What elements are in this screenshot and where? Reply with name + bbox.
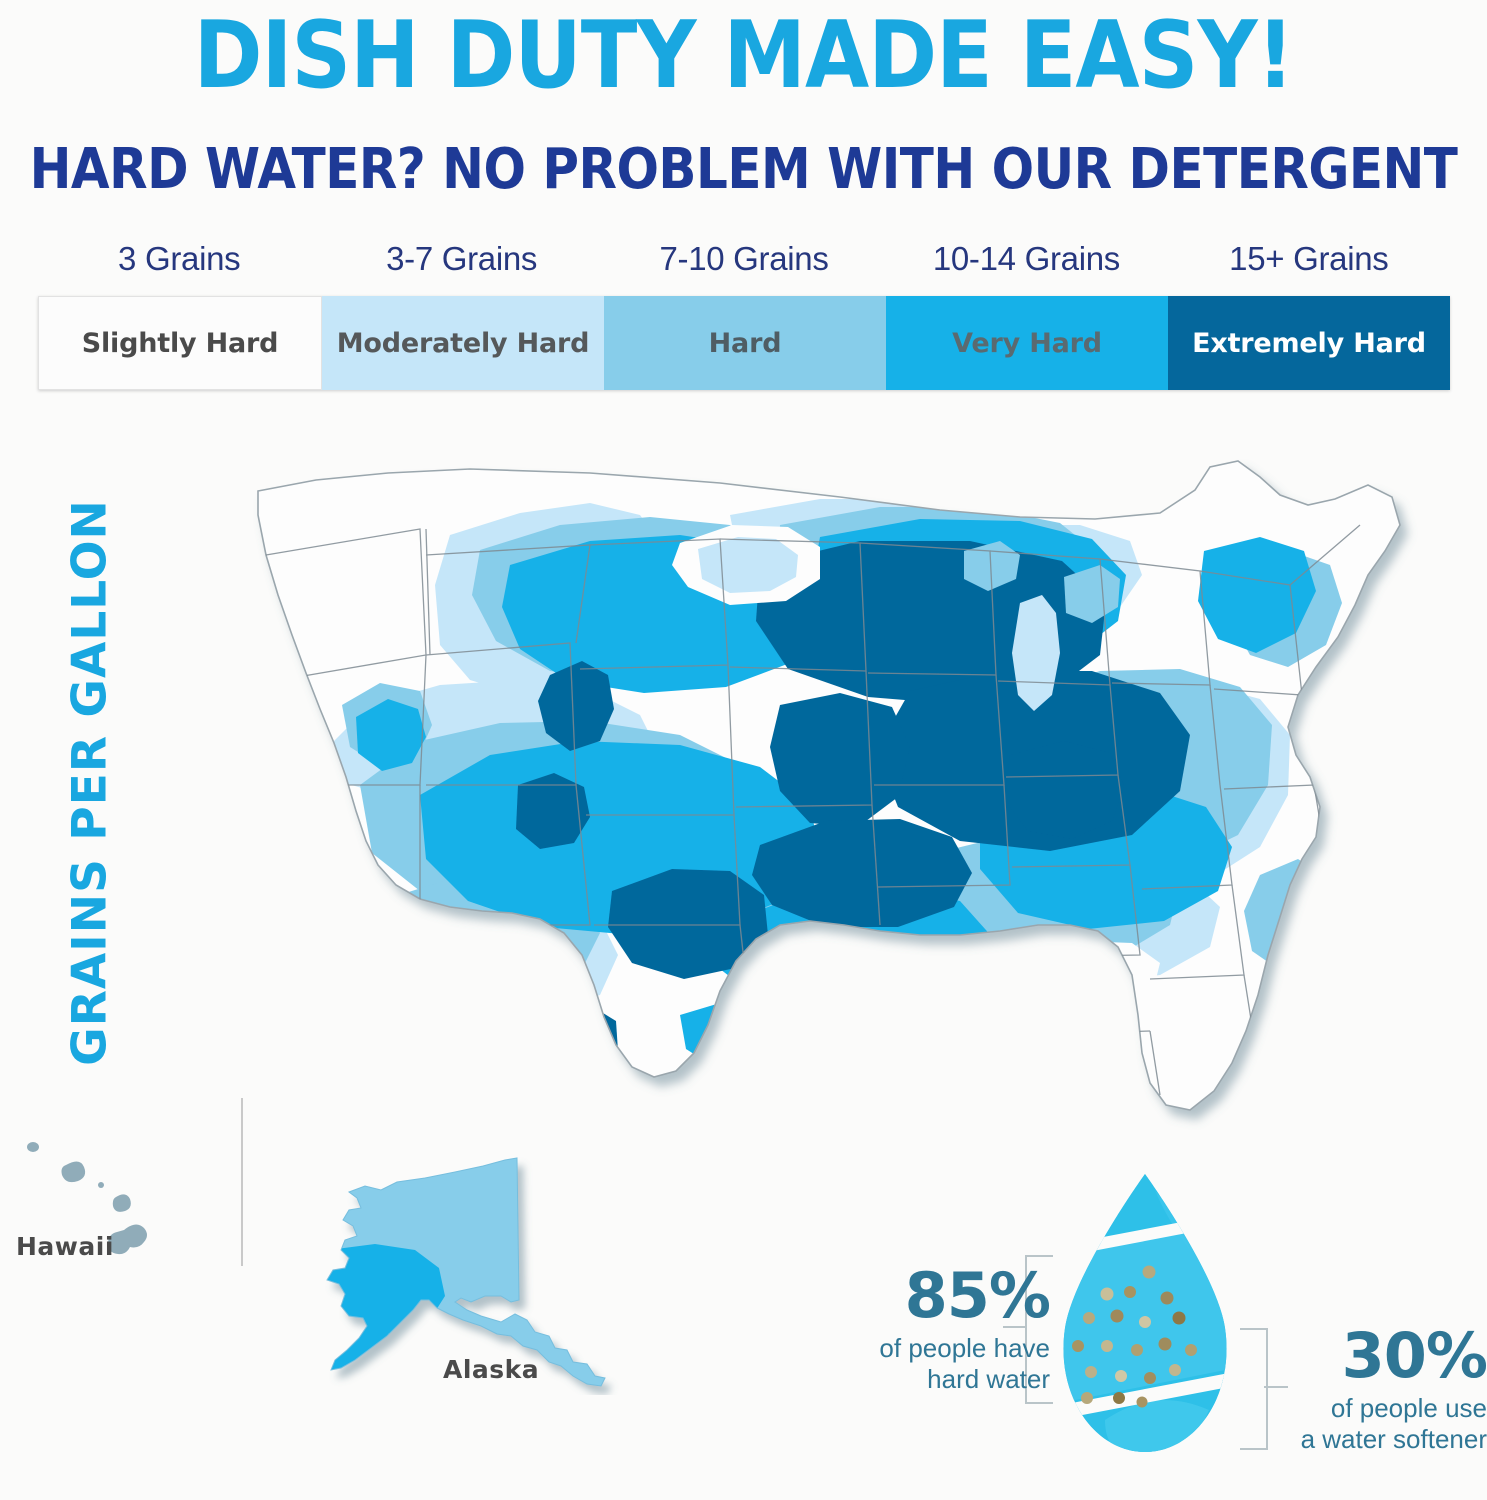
alaska-label: Alaska: [443, 1355, 539, 1384]
legend-swatch-slightly-hard: Slightly Hard: [38, 296, 322, 390]
hardness-legend: 3 Grains 3-7 Grains 7-10 Grains 10-14 Gr…: [38, 240, 1450, 390]
page-title: DISH DUTY MADE EASY!: [0, 4, 1487, 107]
stat-hard-water-line1: of people have: [850, 1333, 1050, 1364]
water-droplet-icon: [1045, 1170, 1245, 1460]
legend-swatch-very-hard: Very Hard: [886, 296, 1168, 390]
stats-section: 85% of people have hard water: [840, 1160, 1487, 1490]
inset-divider: [241, 1098, 243, 1266]
stat-hard-water-value: 85%: [850, 1265, 1050, 1327]
stat-water-softener-line1: of people use: [1255, 1393, 1487, 1424]
stat-hard-water: 85% of people have hard water: [850, 1265, 1050, 1395]
stat-water-softener: 30% of people use a water softener: [1255, 1325, 1487, 1455]
page-subtitle: HARD WATER? NO PROBLEM WITH OUR DETERGEN…: [0, 138, 1487, 202]
legend-grains-3: 10-14 Grains: [885, 240, 1167, 296]
stat-hard-water-line2: hard water: [850, 1364, 1050, 1395]
legend-swatch-hard: Hard: [604, 296, 886, 390]
us-hardness-map: [120, 455, 1450, 1175]
hawaii-label: Hawaii: [16, 1232, 114, 1261]
infographic-canvas: DISH DUTY MADE EASY! HARD WATER? NO PROB…: [0, 0, 1487, 1500]
legend-swatch-moderately-hard: Moderately Hard: [322, 296, 604, 390]
legend-grain-labels: 3 Grains 3-7 Grains 7-10 Grains 10-14 Gr…: [38, 240, 1450, 296]
legend-swatch-extremely-hard: Extremely Hard: [1168, 296, 1450, 390]
stat-water-softener-value: 30%: [1255, 1325, 1487, 1387]
legend-grains-0: 3 Grains: [38, 240, 320, 296]
legend-color-bar: Slightly Hard Moderately Hard Hard Very …: [38, 296, 1450, 390]
stat-water-softener-line2: a water softener: [1255, 1424, 1487, 1455]
hawaii-inset: [0, 1135, 240, 1325]
grains-per-gallon-axis-label: GRAINS PER GALLON: [63, 493, 118, 1073]
legend-grains-4: 15+ Grains: [1168, 240, 1450, 296]
legend-grains-2: 7-10 Grains: [603, 240, 885, 296]
legend-grains-1: 3-7 Grains: [320, 240, 602, 296]
